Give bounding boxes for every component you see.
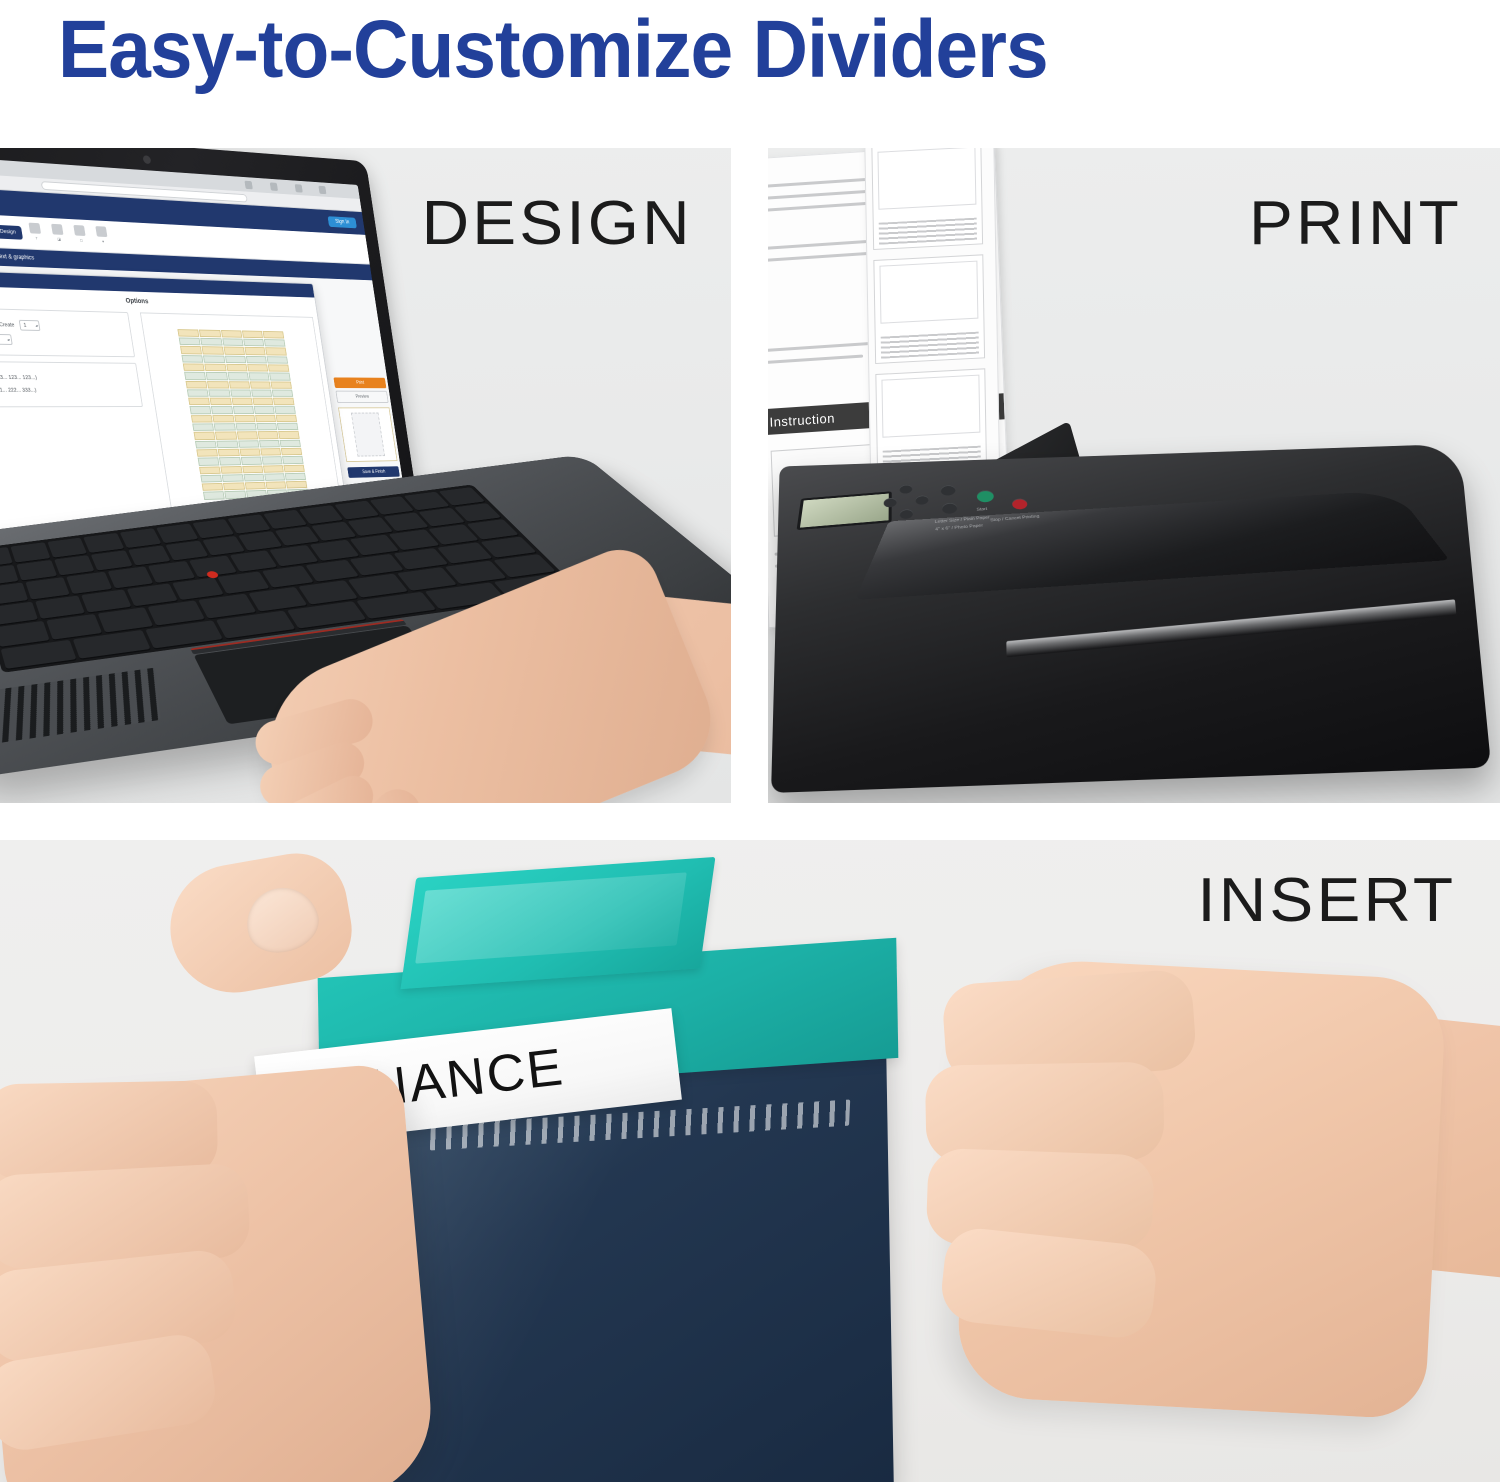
panel-insert: FINANCE INSERT: [0, 840, 1500, 1482]
headline-band: Easy-to-Customize Dividers: [0, 0, 1500, 148]
app-right-rail: Print Preview Save & Finish: [334, 377, 400, 477]
sets-fieldset: Number of Sets to Create 1 Start on Set …: [0, 307, 135, 357]
panel-label-design: DESIGN: [422, 188, 693, 259]
hand-left-holding-label: [0, 1062, 438, 1482]
preview-button[interactable]: Preview: [336, 391, 389, 403]
panel-label-print: PRINT: [1249, 188, 1462, 259]
vent-grille: [0, 668, 161, 747]
toolbar-chip-choose-design[interactable]: Choose Design: [0, 223, 23, 239]
print-button[interactable]: Print: [334, 377, 387, 388]
field-start-on-set: Start on Set 1: [0, 333, 128, 347]
control-label-photo-paper: 4" x 6" / Photo Paper: [935, 524, 983, 533]
field-label-number-of-sets: Number of Sets to Create: [0, 321, 15, 328]
arrow-left-icon[interactable]: [884, 498, 897, 508]
text-icon[interactable]: T: [25, 222, 47, 244]
control-label-start: Start: [976, 507, 987, 512]
start-on-set-stepper[interactable]: 1: [0, 334, 13, 345]
shapes-icon[interactable]: ◻: [70, 224, 91, 246]
field-number-of-sets: Number of Sets to Create 1: [0, 318, 125, 332]
paper-type-button[interactable]: [942, 502, 958, 514]
arrow-down-icon[interactable]: [900, 509, 913, 519]
panel-print: Instruction Letter Size / Plain Paper 4"…: [768, 148, 1500, 803]
image-icon[interactable]: ◪: [48, 223, 69, 245]
radio-group[interactable]: Group (111... 222... 333...): [0, 388, 135, 394]
arrow-up-icon[interactable]: [900, 484, 913, 494]
arrow-right-icon[interactable]: [915, 495, 928, 505]
number-of-sets-stepper[interactable]: 1: [19, 320, 41, 331]
control-label-stop-cancel: Stop / Cancel Printing: [990, 514, 1040, 523]
divider-sheet-grid: [177, 329, 308, 500]
hand-right-holding-divider: [955, 956, 1447, 1420]
stop-button[interactable]: [1011, 498, 1028, 510]
radio-label-group: Group (111... 222... 333...): [0, 388, 37, 394]
paper-output-slot: [1006, 599, 1456, 657]
start-button[interactable]: [976, 490, 994, 503]
page-title: Easy-to-Customize Dividers: [58, 0, 1048, 102]
printer-lcd-display: [797, 491, 892, 530]
page-thumbnail[interactable]: [338, 407, 397, 462]
paper-size-button[interactable]: [940, 485, 955, 496]
save-finish-button[interactable]: Save & Finish: [348, 466, 400, 478]
printer-body: Letter Size / Plain Paper 4" x 6" / Phot…: [771, 444, 1491, 793]
ordering-fieldset: Collate (123... 123... 123...) Group (11…: [0, 361, 143, 408]
panel-design: Help Cart Account Sign In New Project Ch…: [0, 148, 731, 803]
breadcrumb-add-text-graphics: Add text & graphics: [0, 254, 35, 262]
radio-label-collate: Collate (123... 123... 123...): [0, 375, 37, 381]
radio-collate[interactable]: Collate (123... 123... 123...): [0, 375, 133, 382]
color-icon[interactable]: ●: [92, 225, 113, 247]
sign-in-button[interactable]: Sign In: [328, 216, 357, 228]
panel-label-insert: INSERT: [1197, 865, 1456, 936]
